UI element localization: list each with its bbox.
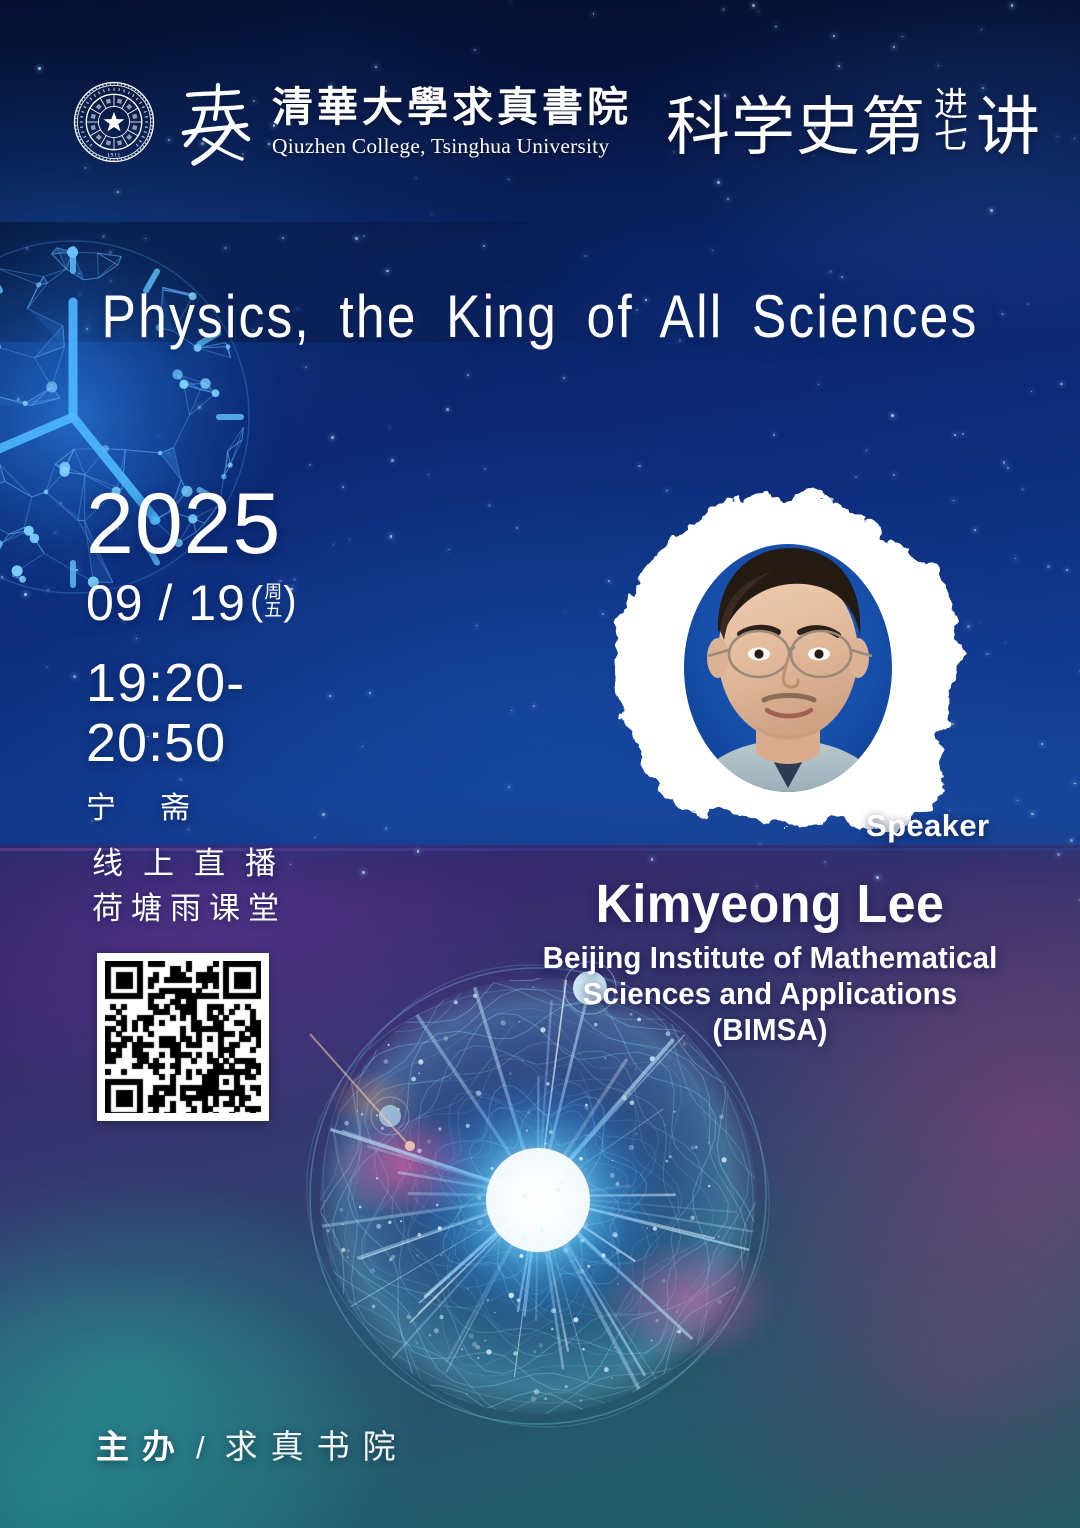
college-name-en: Qiuzhen College, Tsinghua University [272,136,632,158]
livestream-label: 线上直播 [92,842,296,887]
speaker-info-block: Kimyeong Lee Beijing Institute of Mathem… [520,876,1020,1048]
speaker-affiliation-line2: Sciences and Applications (BIMSA) [533,976,1008,1049]
footer-organizer: 主办 / 求真书院 [96,1420,409,1468]
college-name-block: 清華大學求真書院 Qiuzhen College, Tsinghua Unive… [272,87,632,158]
organizer-separator: / [196,1430,205,1466]
event-time-start: 19:20- [86,654,297,713]
qiuzhen-calligraphy-icon [174,79,260,167]
speaker-affiliation: Beijing Institute of Mathematical Scienc… [533,940,1008,1049]
livestream-block: 线上直播 荷塘雨课堂 [92,842,296,932]
speaker-affiliation-line1: Beijing Institute of Mathematical [533,940,1008,976]
event-year: 2025 [86,482,297,566]
poster-header: 1911 清華大學求真書院 Qiuzhen College, Tsinghua … [0,74,1080,170]
seal-year: 1911 [107,152,121,158]
weekday-paren-close: ) [283,581,296,621]
organizer-label: 主办 [96,1420,188,1468]
series-number-stack: 进 七 [934,90,968,154]
series-prefix: 科学史第 [666,76,926,168]
speaker-name: Kimyeong Lee [538,876,1003,933]
event-venue: 宁斋 [86,783,297,827]
qr-code-icon[interactable] [97,953,269,1121]
event-date: 09 / 19 [86,578,246,628]
livestream-platform: 荷塘雨课堂 [92,887,296,932]
lecture-poster: 1911 清華大學求真書院 Qiuzhen College, Tsinghua … [0,0,1080,1528]
event-time: 19:20- 20:50 [86,654,297,773]
lecture-series-title: 科学史第 进 七 讲 [666,76,1041,168]
series-number-bottom: 七 [934,122,968,154]
weekday-paren-open: ( [250,581,263,621]
college-name-cn: 清華大學求真書院 [272,87,632,128]
speaker-portrait-icon [568,472,1002,864]
weekday-stack: 周 五 [264,583,282,620]
tsinghua-seal-icon: 1911 [72,80,156,164]
event-weekday: ( 周 五 ) [250,581,297,621]
organizer-name: 求真书院 [225,1420,409,1468]
event-date-row: 09 / 19 ( 周 五 ) [86,578,297,628]
weekday-top: 周 [264,583,282,601]
event-time-end: 20:50 [86,714,297,773]
qr-code-canvas [105,961,261,1113]
weekday-bottom: 五 [264,601,282,619]
event-datetime-block: 2025 09 / 19 ( 周 五 ) 19:20- 20:50 宁斋 [86,482,297,827]
speaker-role-label: Speaker [866,808,989,844]
page-title: Physics, the King of All Sciences [76,282,1005,351]
series-suffix: 讲 [976,76,1041,168]
